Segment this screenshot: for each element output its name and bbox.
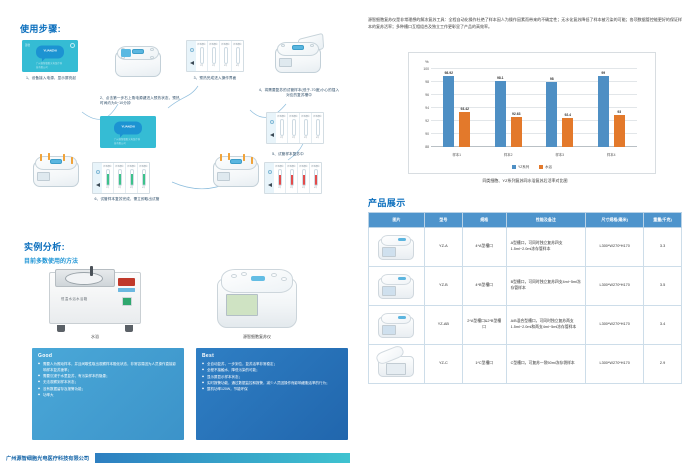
step-1: 源智 YUANZHI 广州源智细胞光电医疗科技有限公司 1、设备接入电源，显示屏… bbox=[22, 40, 80, 81]
slot-status: 3号 bbox=[304, 136, 307, 139]
device-illustration bbox=[112, 42, 164, 80]
slot-label: 样本槽位 bbox=[289, 115, 297, 118]
product-thumb-ab bbox=[374, 310, 418, 340]
cell-desc: B型槽口，可同时独立复苏四支4ml~5ml冻存管样本 bbox=[506, 267, 586, 306]
bar-value: 98.92 bbox=[445, 71, 454, 75]
cell-model: YZ-AB bbox=[424, 306, 462, 345]
step-6-ui: 样本槽位1号 样本槽位2号 样本槽位3号 样本槽位4号 bbox=[92, 162, 150, 194]
bar-group: 98 92.4 bbox=[534, 69, 586, 147]
table-row: YZ-AB 2*A型槽口&2*B型槽口 A/B混合型槽口，可同时独立复苏两支1.… bbox=[369, 306, 682, 345]
cell-size: L300*W270*H170 bbox=[586, 267, 644, 306]
slot-status: 1号 bbox=[278, 186, 281, 189]
ytick: 92 bbox=[425, 119, 429, 123]
photo-waterbath: 恒温水浴水浴箱 水浴 bbox=[30, 264, 160, 340]
bar-water-2: 92.63 bbox=[511, 117, 522, 147]
table-header-row: 图片 型号 规格 性能及备注 尺寸规格(毫米) 重量(千克) bbox=[369, 213, 682, 228]
step-6-caption: 6、试管样本复苏完成，需立即取出试管 bbox=[92, 197, 162, 202]
chart-bar-groups: 98.92 93.42 98.1 92.63 98 92.4 99 93 bbox=[431, 69, 637, 147]
chart-legend: YZ系列 水浴 bbox=[409, 164, 655, 169]
play-icon-2[interactable] bbox=[270, 133, 274, 137]
best-item: 整机功率120W，节能环保 bbox=[202, 387, 342, 393]
footer-bar-left bbox=[95, 453, 350, 463]
best-item: 显示屏显示样本状态； bbox=[202, 375, 342, 381]
case-section-title: 实例分析: bbox=[24, 240, 65, 253]
slot-label: 样本槽位 bbox=[301, 115, 309, 118]
xtick: 样本3 bbox=[534, 152, 586, 157]
brand-bubble: YUANZHI bbox=[36, 46, 64, 59]
table-row: YZ-B 4*B型槽口 B型槽口，可同时独立复苏四支4ml~5ml冻存管样本 L… bbox=[369, 267, 682, 306]
photo-analyzer: 源智细胞复苏仪 bbox=[192, 264, 322, 340]
slot-status: 4号 bbox=[314, 186, 317, 189]
cell-desc: C型槽口，可复苏一袋50ml冻存袋样本 bbox=[506, 345, 586, 384]
cell-model: YZ-C bbox=[424, 345, 462, 384]
th-image: 图片 bbox=[369, 213, 425, 228]
step-5-ui-wrap: 样本槽位1号 样本槽位2号 样本槽位3号 样本槽位4号 bbox=[264, 162, 322, 194]
steps-section-title: 使用步骤: bbox=[20, 22, 61, 35]
left-panel: 使用步骤: 源智 YUANZHI 广州源智细胞光电医疗科技有限公司 1、设备接入… bbox=[0, 0, 350, 474]
bar-water-1: 93.42 bbox=[459, 112, 470, 147]
step-6-ui-wrap: 样本槽位1号 样本槽位2号 样本槽位3号 样本槽位4号 6、试管样本复苏完成，需… bbox=[92, 162, 162, 202]
brand-bubble-2: YUANZHI bbox=[114, 122, 142, 135]
best-box: Best 全自动复苏，一步到位，复苏活率非常稳定； 全程不接触水，降低污染的可能… bbox=[196, 348, 348, 440]
company-name-left: 广州源智细胞光电医疗科技有限公司 bbox=[0, 455, 95, 462]
step-1-caption: 1、设备接入电源，显示屏亮起 bbox=[22, 76, 80, 81]
xtick: 样本2 bbox=[483, 152, 535, 157]
slot-status: 2号 bbox=[292, 136, 295, 139]
legend-swatch-water bbox=[539, 165, 543, 169]
cell-spec: 1*C型槽口 bbox=[462, 345, 506, 384]
brand-name: YUANZHI bbox=[36, 48, 64, 55]
play-icon[interactable] bbox=[190, 61, 194, 65]
photo-waterbath-caption: 水浴 bbox=[30, 334, 160, 340]
ytick: 94 bbox=[425, 106, 429, 110]
chart-caption: 同类细胞、YZ系列复苏同水浴复苏后活率对比图 bbox=[350, 178, 700, 184]
slot-1-label: 样本槽位 bbox=[197, 43, 205, 46]
slot-status: 2号 bbox=[118, 186, 121, 189]
best-item: 全自动复苏，一步到位，复苏活率非常稳定； bbox=[202, 362, 342, 368]
bar-group: 98.1 92.63 bbox=[483, 69, 535, 147]
cell-weight: 3.5 bbox=[644, 267, 682, 306]
gear-icon-3[interactable] bbox=[268, 170, 272, 174]
slot-label: 样本槽位 bbox=[275, 165, 283, 168]
slot-status: 3号 bbox=[130, 186, 133, 189]
bar-yz-1: 98.92 bbox=[443, 76, 454, 147]
tablet-footer-text-2: 广州源智细胞光电医疗科技有限公司 bbox=[114, 137, 142, 145]
products-table: 图片 型号 规格 性能及备注 尺寸规格(毫米) 重量(千克) YZ-A 4*A型… bbox=[368, 212, 682, 384]
cell-weight: 3.3 bbox=[644, 228, 682, 267]
bar-value: 99 bbox=[601, 71, 605, 75]
photo-analyzer-caption: 源智细胞复苏仪 bbox=[192, 334, 322, 340]
slot-1-status: 1号 bbox=[200, 64, 203, 67]
slot-status: 4号 bbox=[316, 136, 319, 139]
step-6-device bbox=[30, 152, 82, 190]
slot-label: 样本槽位 bbox=[277, 115, 285, 118]
slot-1[interactable]: 样本槽位 1号 bbox=[196, 41, 208, 71]
footer-left: 广州源智细胞光电医疗科技有限公司 bbox=[0, 450, 350, 466]
ytick: 88 bbox=[425, 145, 429, 149]
bar-value: 93 bbox=[617, 110, 621, 114]
legend-item-yz: YZ系列 bbox=[512, 164, 529, 169]
slot-bar bbox=[316, 119, 320, 136]
slot-4-status: 4号 bbox=[236, 64, 239, 67]
bar-yz-3: 98 bbox=[546, 82, 557, 147]
product-thumb-a bbox=[374, 232, 418, 262]
cell-model: YZ-B bbox=[424, 267, 462, 306]
slot-bar bbox=[292, 119, 296, 136]
slot-label: 样本槽位 bbox=[139, 165, 147, 168]
slot-status: 2号 bbox=[290, 186, 293, 189]
slot-4-label: 样本槽位 bbox=[233, 43, 241, 46]
chart-x-labels: 样本1 样本2 样本3 样本4 bbox=[431, 152, 637, 157]
brochure-page: 使用步骤: 源智 YUANZHI 广州源智细胞光电医疗科技有限公司 1、设备接入… bbox=[0, 0, 700, 474]
slot-status: 4号 bbox=[142, 186, 145, 189]
slot-4-bar bbox=[236, 47, 240, 64]
slot-3-status: 3号 bbox=[224, 64, 227, 67]
cell-spec: 4*A型槽口 bbox=[462, 228, 506, 267]
legend-swatch-yz bbox=[512, 165, 516, 169]
th-weight: 重量(千克) bbox=[644, 213, 682, 228]
slot-label: 样本槽位 bbox=[287, 165, 295, 168]
th-size: 尺寸规格(毫米) bbox=[586, 213, 644, 228]
slot-3[interactable]: 样本槽位 3号 bbox=[220, 41, 232, 71]
bar-group: 99 93 bbox=[586, 69, 638, 147]
slot-2-status: 2号 bbox=[212, 64, 215, 67]
best-title: Best bbox=[202, 353, 342, 359]
power-icon bbox=[70, 43, 75, 48]
slot-label: 样本槽位 bbox=[313, 115, 321, 118]
bar-group: 98.92 93.42 bbox=[431, 69, 483, 147]
th-desc: 性能及备注 bbox=[506, 213, 586, 228]
step-5-caption: 5、试管样本复苏中 bbox=[262, 152, 314, 157]
slot-label: 样本槽位 bbox=[311, 165, 319, 168]
best-list: 全自动复苏，一步到位，复苏活率非常稳定； 全程不接触水，降低污染的可能； 显示屏… bbox=[202, 362, 342, 393]
gear-icon[interactable] bbox=[190, 48, 194, 52]
play-icon-4[interactable] bbox=[96, 183, 100, 187]
gear-icon-4[interactable] bbox=[96, 170, 100, 174]
bar-value: 92.63 bbox=[512, 112, 521, 116]
th-spec: 规格 bbox=[462, 213, 506, 228]
table-row: YZ-C 1*C型槽口 C型槽口，可复苏一袋50ml冻存袋样本 L300*W27… bbox=[369, 345, 682, 384]
slot-label: 样本槽位 bbox=[115, 165, 123, 168]
step-5-device bbox=[210, 152, 262, 190]
bar-yz-2: 98.1 bbox=[495, 81, 506, 147]
cell-weight: 3.4 bbox=[644, 306, 682, 345]
device-illustration-done bbox=[30, 152, 82, 190]
cell-spec: 2*A型槽口&2*B型槽口 bbox=[462, 306, 506, 345]
ytick: 96 bbox=[425, 93, 429, 97]
step-4-device bbox=[272, 38, 324, 76]
cell-image bbox=[369, 345, 425, 384]
tablet-top-left-label: 源智 bbox=[25, 43, 30, 47]
cell-image bbox=[369, 228, 425, 267]
good-box: Good 需要人为照动样本，并且间歇性取出观察样本融化状态，非常容易因为人员操作… bbox=[32, 348, 184, 440]
good-title: Good bbox=[38, 353, 178, 359]
chart-y-unit: % bbox=[425, 59, 429, 64]
cell-size: L300*W270*H170 bbox=[586, 306, 644, 345]
slot-label: 样本槽位 bbox=[299, 165, 307, 168]
step-3-caption: 3、预热完成进入操作界面 bbox=[186, 76, 244, 81]
bar-value: 92.4 bbox=[564, 113, 571, 117]
ui-side-rail bbox=[187, 41, 196, 71]
tablet-footer-text: 广州源智细胞光电医疗科技有限公司 bbox=[36, 61, 64, 69]
legend-label-yz: YZ系列 bbox=[518, 164, 529, 169]
bar-value: 98.1 bbox=[497, 76, 504, 80]
slot-label: 样本槽位 bbox=[103, 165, 111, 168]
bar-water-3: 92.4 bbox=[562, 118, 573, 147]
activity-chart: % 100 98 96 94 92 90 88 98.92 93.42 98.1… bbox=[408, 52, 656, 174]
right-panel: 源智细胞复苏仪是非常理想的解冻复苏工具：全程自动化操作杜绝了样本因人为操作因素而… bbox=[350, 0, 700, 474]
cell-image bbox=[369, 267, 425, 306]
cell-weight: 2.9 bbox=[644, 345, 682, 384]
slot-label: 样本槽位 bbox=[127, 165, 135, 168]
cell-model: YZ-A bbox=[424, 228, 462, 267]
slot-2[interactable]: 样本槽位 2号 bbox=[208, 41, 220, 71]
table-row: YZ-A 4*A型槽口 A型槽口，可同时独立复苏四支1.5ml~2.0ml冻存管… bbox=[369, 228, 682, 267]
bar-value: 93.42 bbox=[461, 107, 470, 111]
good-list: 需要人为照动样本，并且间歇性取出观察样本融化状态，非常容易因为人员操作直接影响样… bbox=[38, 362, 178, 399]
good-item: 没有数据留存及报警功能； bbox=[38, 387, 178, 393]
cell-desc: A型槽口，可同时独立复苏四支1.5ml~2.0ml冻存管样本 bbox=[506, 228, 586, 267]
products-section-title: 产品展示 bbox=[368, 196, 406, 209]
device-illustration-open bbox=[272, 38, 324, 76]
step-4-ui-wrap: 样本槽位1号 样本槽位2号 样本槽位3号 样本槽位4号 bbox=[266, 112, 324, 144]
slot-2-label: 样本槽位 bbox=[209, 43, 217, 46]
step-3-ui: 样本槽位 1号 样本槽位 2号 样本槽位 3号 bbox=[186, 40, 244, 72]
cell-size: L300*W270*H170 bbox=[586, 345, 644, 384]
waterbath-device-text: 恒温水浴水浴箱 bbox=[61, 296, 88, 301]
xtick: 样本4 bbox=[586, 152, 638, 157]
step-2-caption: 2、点击第一步右上角电源键进入预热状态，预热时间约为5~10分钟 bbox=[100, 96, 182, 107]
step-3: 样本槽位 1号 样本槽位 2号 样本槽位 3号 bbox=[186, 40, 244, 81]
ytick: 90 bbox=[425, 132, 429, 136]
slot-3-label: 样本槽位 bbox=[221, 43, 229, 46]
legend-item-water: 水浴 bbox=[539, 164, 552, 169]
step-4-ui: 样本槽位1号 样本槽位2号 样本槽位3号 样本槽位4号 bbox=[266, 112, 324, 144]
chart-plot-area: 100 98 96 94 92 90 88 98.92 93.42 98.1 9… bbox=[431, 69, 637, 147]
slot-status: 1号 bbox=[106, 186, 109, 189]
best-item: 全程不接触水，降低污染的可能； bbox=[202, 368, 342, 374]
play-icon-3[interactable] bbox=[268, 183, 272, 187]
intro-paragraph: 源智细胞复苏仪是非常理想的解冻复苏工具：全程自动化操作杜绝了样本因人为操作因素而… bbox=[368, 16, 682, 30]
good-item: 需要沉浸于水里复苏，有污染样本的隐患； bbox=[38, 374, 178, 380]
product-thumb-b bbox=[374, 271, 418, 301]
legend-label-water: 水浴 bbox=[545, 164, 552, 169]
ytick: 98 bbox=[425, 80, 429, 84]
step-2-screen: YUANZHI 广州源智细胞光电医疗科技有限公司 bbox=[100, 116, 156, 148]
bar-yz-4: 99 bbox=[598, 76, 609, 148]
good-item: 需要人为照动样本，并且间歇性取出观察样本融化状态，非常容易因为人员操作直接影响样… bbox=[38, 362, 178, 374]
brand-name-2: YUANZHI bbox=[114, 124, 142, 131]
cell-size: L300*W270*H170 bbox=[586, 228, 644, 267]
bar-value: 98 bbox=[550, 77, 554, 81]
gear-icon-2[interactable] bbox=[270, 120, 274, 124]
step-4-caption: 4、将需要复苏的试管样本(低于-70度)小心的插入对应的复苏槽中 bbox=[258, 88, 340, 99]
slot-bar bbox=[280, 119, 284, 136]
step-1-screen: 源智 YUANZHI 广州源智细胞光电医疗科技有限公司 bbox=[22, 40, 78, 72]
bar-water-4: 93 bbox=[614, 115, 625, 148]
slot-2-bar bbox=[212, 47, 216, 64]
slot-status: 1号 bbox=[280, 136, 283, 139]
device-illustration-tubes bbox=[210, 152, 262, 190]
step-2-device bbox=[112, 42, 164, 80]
good-item: 无法观察到样本状态； bbox=[38, 380, 178, 386]
slot-status: 3号 bbox=[302, 186, 305, 189]
best-item: 实时报警功能，通过数据监控和报警，减少人员因操作而影响细胞活率的行为； bbox=[202, 381, 342, 387]
ytick: 100 bbox=[423, 67, 429, 71]
cell-desc: A/B混合型槽口，可同时独立复苏两支1.5ml~2.0ml和两支4ml~5ml冻… bbox=[506, 306, 586, 345]
th-model: 型号 bbox=[424, 213, 462, 228]
step-5-ui: 样本槽位1号 样本槽位2号 样本槽位3号 样本槽位4号 bbox=[264, 162, 322, 194]
cell-image bbox=[369, 306, 425, 345]
slot-bar bbox=[304, 119, 308, 136]
product-thumb-c bbox=[374, 349, 418, 379]
good-item: 功率大 bbox=[38, 393, 178, 399]
slot-1-bar bbox=[200, 47, 204, 64]
slot-4[interactable]: 样本槽位 4号 bbox=[232, 41, 243, 71]
cell-spec: 4*B型槽口 bbox=[462, 267, 506, 306]
slot-3-bar bbox=[224, 47, 228, 64]
xtick: 样本1 bbox=[431, 152, 483, 157]
